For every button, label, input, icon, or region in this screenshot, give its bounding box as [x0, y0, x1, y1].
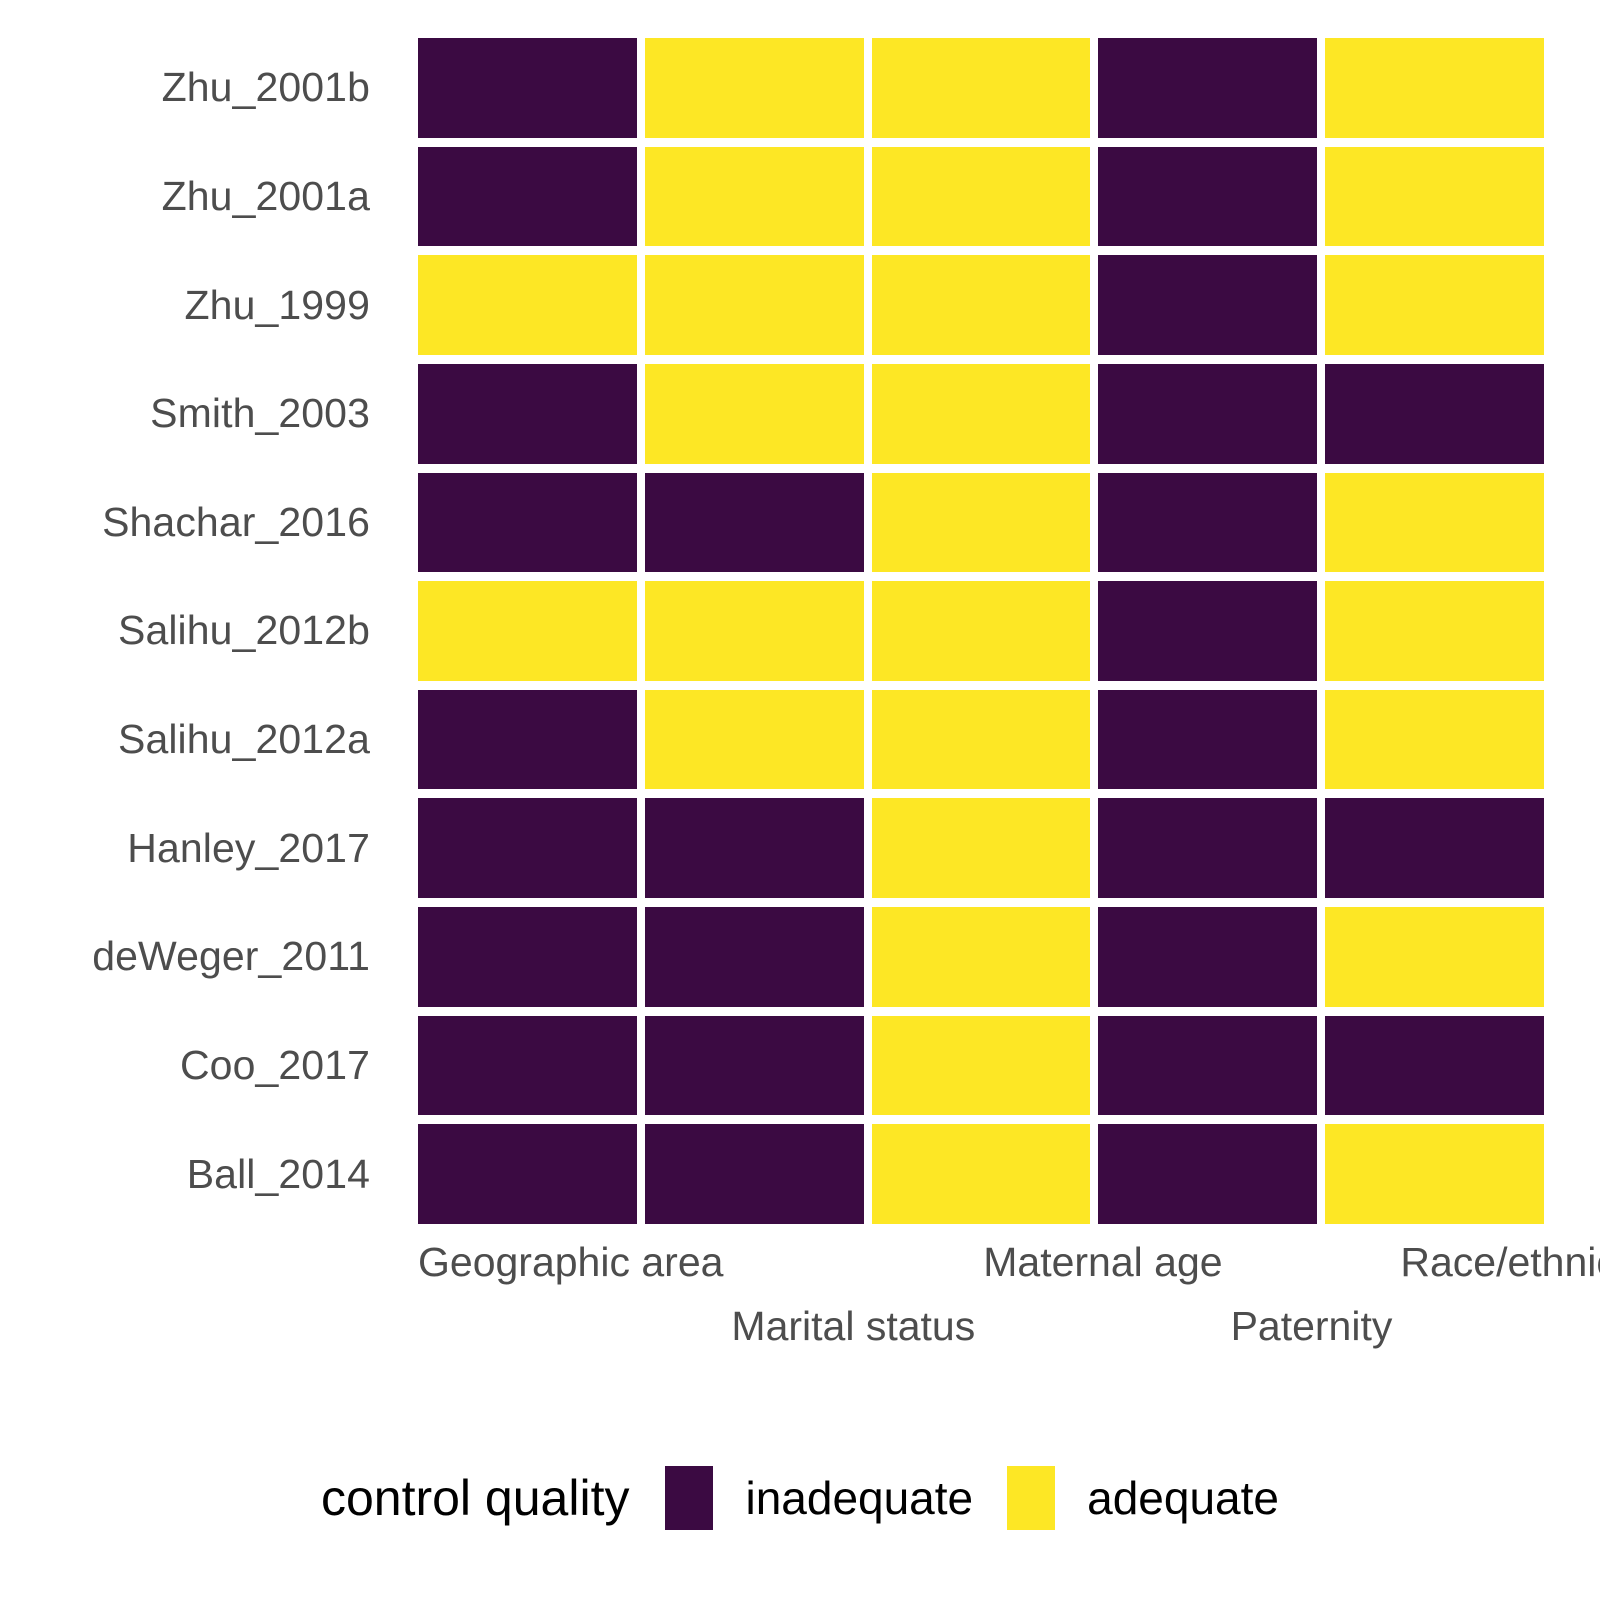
x-axis-tick-label: Race/ethnicity — [1400, 1232, 1600, 1292]
x-axis-tick-label: Marital status — [731, 1296, 975, 1356]
y-axis: Zhu_2001bZhu_2001aZhu_1999Smith_2003Shac… — [0, 38, 396, 1224]
heatmap-cell — [1098, 473, 1317, 573]
x-axis-tick-label: Maternal age — [983, 1232, 1222, 1292]
heatmap-cell — [1325, 798, 1544, 898]
heatmap-cell — [1098, 147, 1317, 247]
heatmap-cell — [1098, 1016, 1317, 1116]
plot-panel — [418, 38, 1544, 1224]
heatmap-cell — [645, 1124, 864, 1224]
heatmap-cell — [645, 473, 864, 573]
heatmap-cell — [1098, 907, 1317, 1007]
heatmap-cell — [1098, 690, 1317, 790]
y-axis-tick-label: Smith_2003 — [0, 364, 396, 464]
heatmap-cell — [1098, 255, 1317, 355]
heatmap-cell — [872, 473, 1091, 573]
heatmap-cell — [872, 1124, 1091, 1224]
heatmap-cell — [1325, 255, 1544, 355]
heatmap-cell — [418, 1016, 637, 1116]
heatmap-cell — [1325, 690, 1544, 790]
heatmap-cell — [1098, 581, 1317, 681]
heatmap-figure: Zhu_2001bZhu_2001aZhu_1999Smith_2003Shac… — [0, 0, 1600, 1600]
y-axis-tick-label: Hanley_2017 — [0, 798, 396, 898]
y-axis-tick-label: Salihu_2012b — [0, 581, 396, 681]
heatmap-cell — [872, 364, 1091, 464]
heatmap-cell — [1325, 147, 1544, 247]
heatmap-cell — [645, 907, 864, 1007]
heatmap-cell — [418, 364, 637, 464]
heatmap-cell — [418, 581, 637, 681]
legend: control quality inadequateadequate — [0, 1448, 1600, 1548]
heatmap-cell — [1325, 1124, 1544, 1224]
x-axis-row-top: Geographic areaMarital statusMaternal ag… — [418, 1232, 1544, 1292]
heatmap-cell — [645, 1016, 864, 1116]
heatmap-cell — [1098, 38, 1317, 138]
heatmap-cell — [872, 1016, 1091, 1116]
heatmap-cell — [645, 38, 864, 138]
heatmap-cell — [645, 364, 864, 464]
legend-items: inadequateadequate — [665, 1466, 1279, 1530]
heatmap-cell — [418, 1124, 637, 1224]
heatmap-cell — [418, 255, 637, 355]
y-axis-tick-label: Coo_2017 — [0, 1016, 396, 1116]
heatmap-cell — [418, 690, 637, 790]
heatmap-cell — [1098, 1124, 1317, 1224]
y-axis-tick-label: Shachar_2016 — [0, 473, 396, 573]
heatmap-cell — [645, 798, 864, 898]
y-axis-tick-label: Zhu_1999 — [0, 255, 396, 355]
heatmap-cell — [872, 255, 1091, 355]
heatmap-cell — [418, 473, 637, 573]
legend-item[interactable]: inadequate — [665, 1466, 973, 1530]
heatmap-cell — [872, 907, 1091, 1007]
legend-item-label: adequate — [1087, 1471, 1279, 1525]
heatmap-cell — [418, 38, 637, 138]
y-axis-tick-label: Ball_2014 — [0, 1124, 396, 1224]
y-axis-tick-label: Zhu_2001a — [0, 147, 396, 247]
heatmap-cell — [872, 581, 1091, 681]
heatmap-cell — [1325, 364, 1544, 464]
heatmap-grid — [418, 38, 1544, 1224]
heatmap-cell — [1325, 473, 1544, 573]
x-axis: Geographic areaMarital statusMaternal ag… — [418, 1232, 1544, 1362]
heatmap-cell — [645, 581, 864, 681]
heatmap-cell — [1098, 798, 1317, 898]
heatmap-cell — [1325, 907, 1544, 1007]
heatmap-cell — [1325, 1016, 1544, 1116]
heatmap-cell — [418, 147, 637, 247]
legend-item-label: inadequate — [745, 1471, 973, 1525]
heatmap-cell — [418, 798, 637, 898]
x-axis-row-bottom: Geographic areaMarital statusMaternal ag… — [418, 1296, 1544, 1356]
heatmap-cell — [872, 690, 1091, 790]
legend-color-swatch — [665, 1466, 713, 1530]
heatmap-cell — [872, 38, 1091, 138]
heatmap-cell — [1325, 38, 1544, 138]
heatmap-cell — [1325, 581, 1544, 681]
heatmap-cell — [418, 907, 637, 1007]
heatmap-cell — [645, 147, 864, 247]
heatmap-cell — [645, 690, 864, 790]
y-axis-tick-label: deWeger_2011 — [0, 907, 396, 1007]
heatmap-cell — [645, 255, 864, 355]
legend-color-swatch — [1007, 1466, 1055, 1530]
heatmap-cell — [1098, 364, 1317, 464]
legend-title: control quality — [321, 1469, 630, 1527]
legend-item[interactable]: adequate — [1007, 1466, 1279, 1530]
x-axis-tick-label: Paternity — [1231, 1296, 1393, 1356]
heatmap-cell — [872, 798, 1091, 898]
y-axis-tick-label: Zhu_2001b — [0, 38, 396, 138]
y-axis-tick-label: Salihu_2012a — [0, 690, 396, 790]
heatmap-cell — [872, 147, 1091, 247]
x-axis-tick-label: Geographic area — [418, 1232, 723, 1292]
